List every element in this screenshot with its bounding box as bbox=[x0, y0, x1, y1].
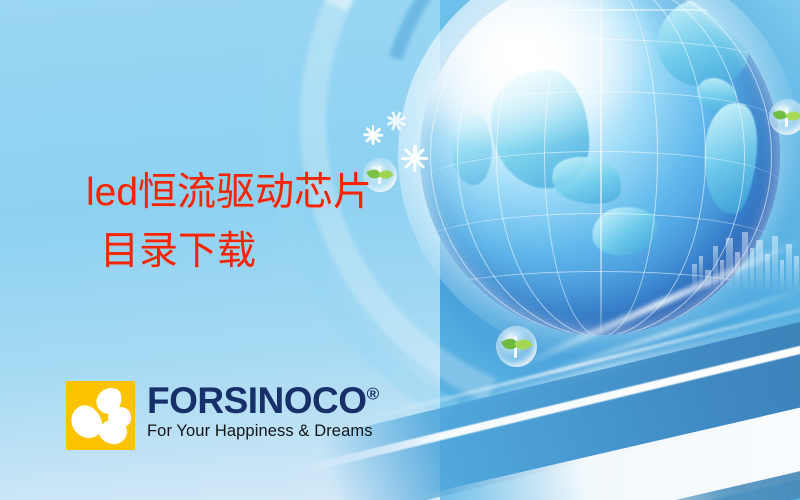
brand-logo[interactable]: FORSINOCO® For Your Happiness & Dreams bbox=[66, 381, 379, 450]
leaf-shape bbox=[379, 168, 394, 182]
leaf-shape bbox=[514, 336, 532, 353]
registered-trademark-symbol: ® bbox=[367, 385, 379, 404]
brand-tagline: For Your Happiness & Dreams bbox=[147, 421, 379, 441]
page-title: led恒流驱动芯片 目录下载 bbox=[86, 163, 372, 282]
leaf-shape bbox=[785, 108, 800, 123]
brand-name: FORSINOCO® bbox=[147, 382, 379, 420]
city-skyline-silhouette bbox=[690, 228, 800, 290]
headline-line-2: 目录下载 bbox=[86, 222, 372, 281]
eco-bubble-right bbox=[769, 99, 800, 135]
forsinoco-flower-mark-icon bbox=[66, 381, 135, 450]
headline-line-1: led恒流驱动芯片 bbox=[86, 171, 372, 214]
promo-banner: led恒流驱动芯片 目录下载 FORSINOCO® For Your Happi… bbox=[0, 0, 800, 500]
eco-bubble-center bbox=[496, 326, 537, 367]
logo-text-block: FORSINOCO® For Your Happiness & Dreams bbox=[147, 381, 379, 441]
brand-name-text: FORSINOCO bbox=[147, 380, 367, 421]
